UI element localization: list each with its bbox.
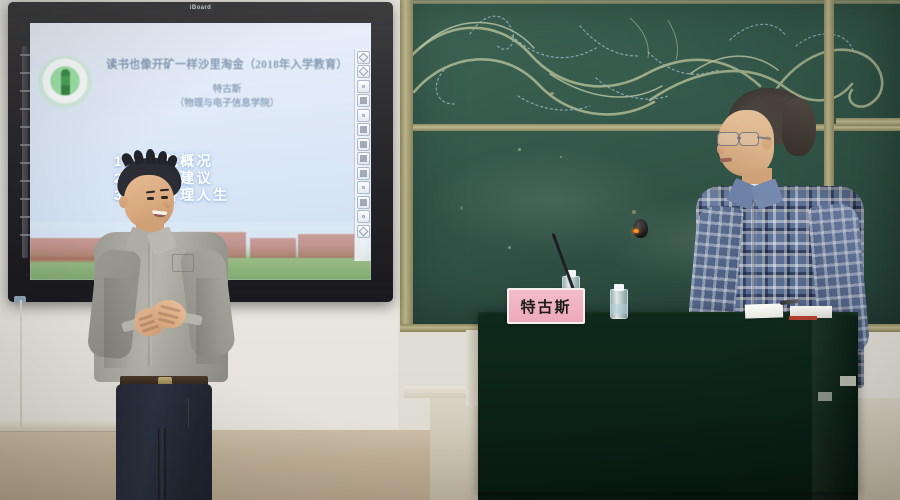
page-icon[interactable] [357, 94, 370, 107]
whiteboard-software-toolbar[interactable] [354, 49, 371, 261]
pen-icon[interactable] [357, 138, 370, 151]
eyeglasses-bridge [737, 137, 741, 139]
dot-icon[interactable] [357, 80, 370, 93]
diamond-icon[interactable] [357, 51, 370, 64]
shirt-pocket [172, 254, 194, 272]
cloth-tag [818, 392, 832, 401]
square-icon[interactable] [357, 109, 370, 122]
water-bottle[interactable] [610, 284, 628, 322]
red-bookmark [789, 316, 817, 320]
trouser-seam [158, 428, 166, 500]
undo-icon[interactable] [357, 181, 370, 194]
eraser-icon[interactable] [357, 210, 370, 223]
person-left-clapping [88, 158, 238, 500]
diamond-icon[interactable] [357, 65, 370, 78]
whiteboard-side-rail [22, 46, 28, 258]
pen-icon[interactable] [357, 123, 370, 136]
cloth-tag [840, 376, 856, 386]
table-cloth-fold [812, 316, 858, 500]
ear [119, 196, 128, 208]
trouser-pocket [188, 398, 208, 428]
microphone-led-indicator [633, 229, 639, 233]
link-icon[interactable] [357, 225, 370, 238]
eyeglasses-lens-left [717, 132, 739, 146]
whiteboard-brand-label: iBoard [190, 5, 211, 11]
hair-back [782, 98, 816, 156]
name-plate-card: 特古斯 [507, 288, 585, 324]
name-plate-text: 特古斯 [520, 296, 571, 317]
pen-icon[interactable] [357, 196, 370, 209]
slide-title: 读书也像开矿一样沙里淘金（2018年入学教育） [82, 56, 371, 72]
papers[interactable] [745, 303, 783, 318]
slide-speaker-name: 特古斯 [82, 81, 371, 95]
grid-icon[interactable] [357, 167, 370, 180]
eye [147, 197, 154, 200]
chalkboard-frame-vertical-left [400, 0, 413, 330]
eyeglasses-lens-right [739, 132, 759, 146]
table-cloth [478, 316, 858, 500]
shirt-placket [148, 244, 152, 366]
table-shadow [478, 492, 858, 500]
pen-icon[interactable] [357, 152, 370, 165]
whiteboard-power-cable [20, 300, 22, 428]
nose [164, 199, 171, 208]
table-left-edge [466, 330, 478, 406]
slide-affiliation: （物理与电子信息学院） [82, 95, 371, 109]
photograph-lecture-scene: iBoard [0, 0, 900, 500]
